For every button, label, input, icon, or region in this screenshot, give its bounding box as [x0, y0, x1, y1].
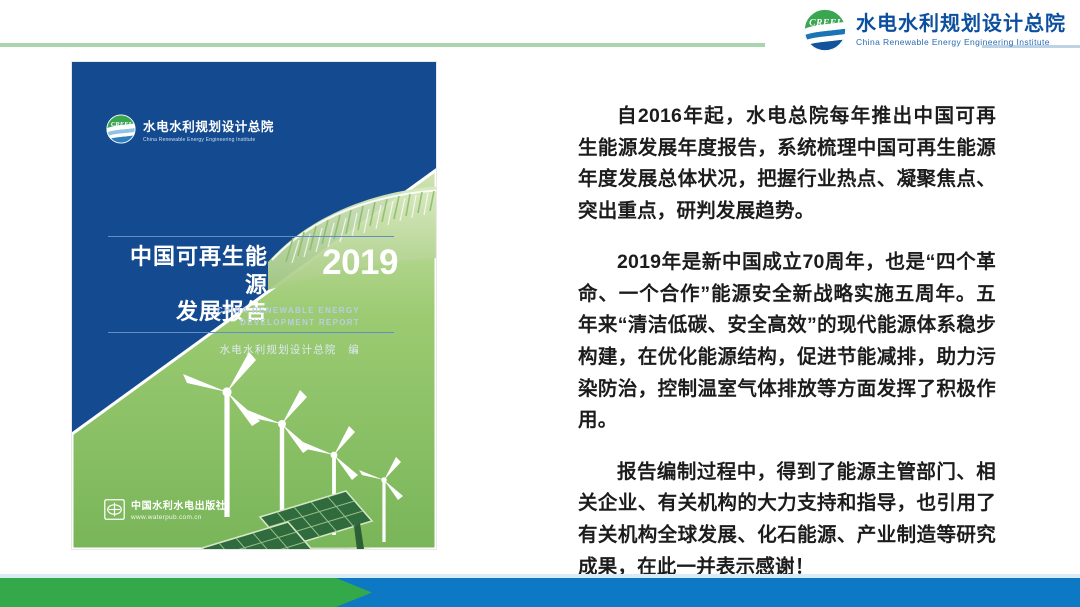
svg-text:CREEI: CREEI	[809, 18, 842, 29]
cover-creei-logo-icon: CREEI	[106, 114, 136, 144]
slide-root: CREEI 水电水利规划设计总院 China Renewable Energy …	[0, 0, 1080, 607]
publisher-seal-icon	[104, 499, 125, 520]
book-cover-image: CREEI 水电水利规划设计总院 China Renewable Energy …	[72, 62, 436, 549]
svg-text:CREEI: CREEI	[111, 121, 132, 128]
cover-subtitle-line1: CHINA RENEWABLE ENERGY	[108, 305, 360, 317]
footer-bar-green-arrow	[0, 578, 372, 607]
paragraph-1: 自2016年起，水电总院每年推出中国可再生能源发展年度报告，系统梳理中国可再生能…	[578, 101, 996, 227]
cover-subtitle-line2: DEVELOPMENT REPORT	[108, 317, 360, 329]
cover-author: 水电水利规划设计总院 编	[108, 342, 360, 357]
creei-logo-icon: CREEI	[803, 8, 847, 52]
cover-divider-bottom	[108, 332, 394, 333]
header-rule-green	[0, 43, 765, 47]
cover-brand-name-en: China Renewable Energy Engineering Insti…	[143, 137, 274, 143]
publisher-text: 中国水利水电出版社 www.waterpub.com.cn	[131, 497, 226, 521]
cover-title-line1: 中国可再生能源	[108, 243, 268, 298]
brand-text: 水电水利规划设计总院 China Renewable Energy Engine…	[856, 14, 1066, 47]
footer-bar	[0, 574, 1080, 607]
publisher-name: 中国水利水电出版社	[131, 497, 226, 512]
cover-brand-name-cn: 水电水利规划设计总院	[143, 116, 274, 135]
publisher-url: www.waterpub.com.cn	[131, 514, 226, 521]
cover-brand-text: 水电水利规划设计总院 China Renewable Energy Engine…	[143, 116, 274, 143]
paragraph-3: 报告编制过程中，得到了能源主管部门、相关企业、有关机构的大力支持和指导，也引用了…	[578, 457, 996, 583]
publisher-lockup: 中国水利水电出版社 www.waterpub.com.cn	[104, 497, 226, 521]
brand-lockup: CREEI 水电水利规划设计总院 China Renewable Energy …	[803, 8, 1066, 52]
body-copy: 自2016年起，水电总院每年推出中国可再生能源发展年度报告，系统梳理中国可再生能…	[578, 101, 996, 583]
paragraph-2: 2019年是新中国成立70周年，也是“四个革命、一个合作”能源安全新战略实施五周…	[578, 247, 996, 436]
cover-divider-top	[108, 236, 394, 237]
cover-subtitle: CHINA RENEWABLE ENERGY DEVELOPMENT REPOR…	[108, 305, 360, 328]
brand-name-cn: 水电水利规划设计总院	[856, 14, 1066, 34]
cover-brand-lockup: CREEI 水电水利规划设计总院 China Renewable Energy …	[106, 114, 274, 144]
cover-year: 2019	[322, 245, 398, 280]
brand-name-en: China Renewable Energy Engineering Insti…	[856, 38, 1066, 47]
